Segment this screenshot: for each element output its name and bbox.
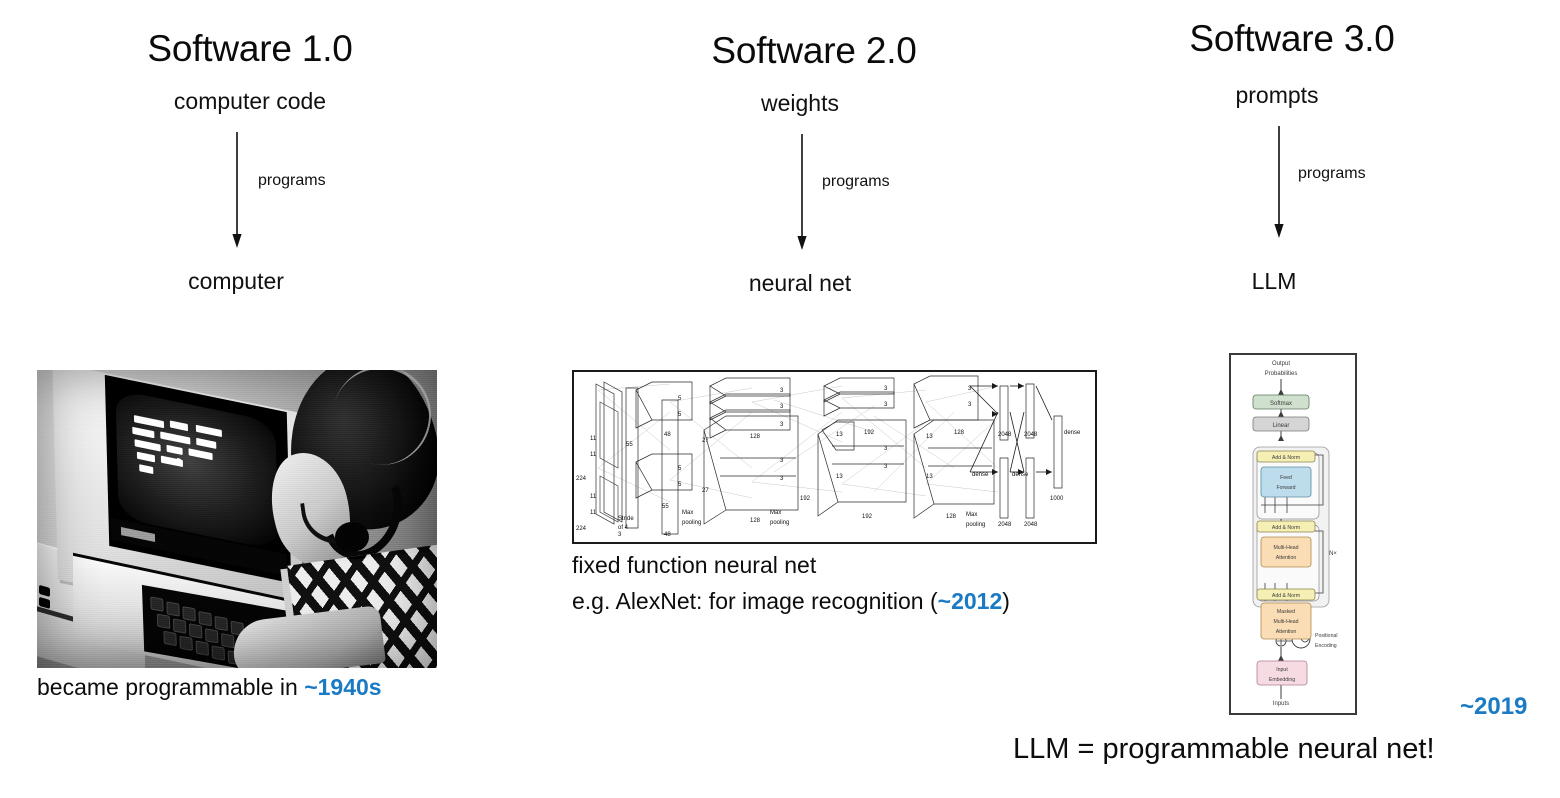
- alexnet-label-128d: 128: [946, 514, 957, 520]
- alexnet-label-13a: 13: [836, 432, 843, 438]
- alexnet-label-27b: 27: [702, 488, 709, 494]
- column-1-source: computer code: [174, 88, 326, 115]
- alexnet-label-dense-mid2: dense: [1012, 472, 1029, 478]
- column-1-caption-prefix: became programmable in: [37, 674, 304, 700]
- alexnet-label-3i: 3: [884, 464, 888, 470]
- alexnet-label-5a: 5: [678, 396, 682, 402]
- alexnet-label-3c: 3: [780, 422, 784, 428]
- alexnet-label-11a: 11: [590, 436, 597, 442]
- column-3-caption-big: LLM = programmable neural net!: [1013, 733, 1435, 766]
- arrow-down-icon-3: [1270, 126, 1288, 240]
- alexnet-label-1000: 1000: [1050, 496, 1064, 502]
- column-1-title: Software 1.0: [147, 28, 352, 70]
- alexnet-label-2048b: 2048: [1024, 432, 1038, 438]
- alexnet-label-128b: 128: [750, 518, 761, 524]
- svg-text:Stride: Stride: [618, 516, 634, 522]
- alexnet-label-11d: 11: [590, 510, 597, 516]
- alexnet-label-3d: 3: [780, 458, 784, 464]
- alexnet-label-128c: 128: [954, 430, 965, 436]
- alexnet-label-48b: 48: [664, 532, 671, 538]
- alexnet-label-depth: 3: [618, 532, 622, 538]
- transformer-masked-label-3: Attention: [1276, 629, 1297, 635]
- column-2-target: neural net: [749, 270, 851, 297]
- alexnet-svg: 11 11 224 11 11 224 3 Stride of 4 55 55 …: [574, 372, 1091, 538]
- column-3-source: prompts: [1235, 82, 1318, 109]
- slide-root: Software 1.0 computer code programs comp…: [0, 0, 1560, 798]
- column-3-arrow-label: programs: [1298, 165, 1366, 183]
- alexnet-label-2048c: 2048: [998, 522, 1012, 528]
- vintage-terminal-photo: [37, 370, 437, 668]
- alexnet-label-192a: 192: [800, 496, 811, 502]
- alexnet-label-13c: 13: [926, 434, 933, 440]
- column-1-caption-year: ~1940s: [304, 674, 381, 700]
- alexnet-label-224a: 224: [576, 476, 587, 482]
- alexnet-label-48a: 48: [664, 432, 671, 438]
- alexnet-label-3h: 3: [884, 446, 888, 452]
- transformer-masked-mha-group: Masked Multi-Head Attention: [1231, 355, 1351, 709]
- column-3-caption-year: ~2019: [1460, 693, 1527, 721]
- column-1-target: computer: [188, 268, 284, 295]
- alexnet-label-192c: 192: [862, 514, 873, 520]
- column-2-arrow-label: programs: [822, 173, 890, 191]
- column-1-caption: became programmable in ~1940s: [37, 674, 382, 701]
- alexnet-label-13d: 13: [926, 474, 933, 480]
- alexnet-architecture-diagram: 11 11 224 11 11 224 3 Stride of 4 55 55 …: [572, 370, 1097, 544]
- column-3-title: Software 3.0: [1189, 18, 1394, 60]
- alexnet-label-192b: 192: [864, 430, 875, 436]
- alexnet-label-224b: 224: [576, 526, 587, 532]
- column-2-caption-suffix: ): [1002, 588, 1010, 614]
- alexnet-label-2048d: 2048: [1024, 522, 1038, 528]
- alexnet-label-dense-top: dense: [1064, 430, 1081, 436]
- svg-text:pooling: pooling: [966, 522, 985, 528]
- alexnet-label-3g: 3: [884, 402, 888, 408]
- arrow-down-icon-2: [793, 134, 811, 252]
- svg-text:of 4: of 4: [618, 525, 629, 531]
- alexnet-label-3e: 3: [780, 476, 784, 482]
- alexnet-label-11b: 11: [590, 452, 597, 458]
- transformer-masked-label-2: Multi-Head: [1273, 619, 1298, 625]
- alexnet-label-27a: 27: [702, 438, 709, 444]
- alexnet-label-128a: 128: [750, 434, 761, 440]
- alexnet-label-2048a: 2048: [998, 432, 1012, 438]
- svg-text:Max: Max: [682, 510, 693, 516]
- column-3-target: LLM: [1252, 268, 1297, 295]
- arrow-down-icon-1: [228, 132, 246, 250]
- svg-text:Max: Max: [770, 510, 781, 516]
- alexnet-label-3k: 3: [968, 402, 972, 408]
- column-1-arrow-label: programs: [258, 172, 326, 190]
- alexnet-label-dense-mid: dense: [972, 472, 989, 478]
- svg-text:Max: Max: [966, 512, 977, 518]
- alexnet-label-3f: 3: [884, 386, 888, 392]
- alexnet-label-5d: 5: [678, 482, 682, 488]
- column-2-caption-year: ~2012: [938, 588, 1003, 614]
- column-2-caption-line2: e.g. AlexNet: for image recognition (~20…: [572, 588, 1010, 615]
- alexnet-label-3b: 3: [780, 404, 784, 410]
- alexnet-label-5c: 5: [678, 466, 682, 472]
- column-2-source: weights: [761, 90, 839, 117]
- alexnet-label-55a: 55: [626, 442, 633, 448]
- svg-text:pooling: pooling: [770, 520, 789, 526]
- transformer-architecture-diagram: Softmax Linear Add & Norm Feed Forward A…: [1229, 353, 1357, 715]
- transformer-masked-label-1: Masked: [1277, 609, 1295, 615]
- alexnet-label-13b: 13: [836, 474, 843, 480]
- column-2-caption-prefix: e.g. AlexNet: for image recognition (: [572, 588, 938, 614]
- column-2-title: Software 2.0: [711, 30, 916, 72]
- alexnet-label-55b: 55: [662, 504, 669, 510]
- svg-text:pooling: pooling: [682, 520, 701, 526]
- alexnet-label-11c: 11: [590, 494, 597, 500]
- alexnet-label-5b: 5: [678, 412, 682, 418]
- alexnet-label-3a: 3: [780, 388, 784, 394]
- column-2-caption-line1: fixed function neural net: [572, 552, 816, 579]
